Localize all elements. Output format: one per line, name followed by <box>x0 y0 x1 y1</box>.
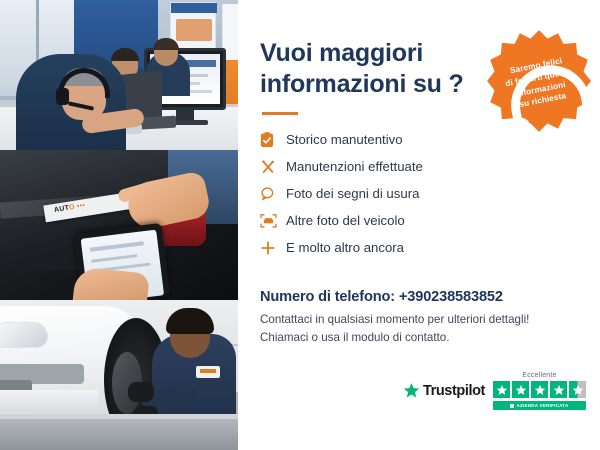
trustpilot-rating: Eccellente AZIENDA VERIFICATA <box>493 372 586 410</box>
contact-line-2: Chiamaci o usa il modulo di contatto. <box>260 329 578 347</box>
trustpilot-widget[interactable]: Trustpilot Eccellente AZIENDA VERIFICATA <box>403 372 586 410</box>
verified-label: AZIENDA VERIFICATA <box>516 403 568 408</box>
star-partial <box>569 381 586 398</box>
trustpilot-logo: Trustpilot <box>403 382 485 399</box>
poster-band <box>171 3 217 13</box>
contact-description: Contattaci in qualsiasi momento per ulte… <box>260 311 578 346</box>
wrench-screwdriver-icon <box>260 159 286 175</box>
lift-platform-edge <box>0 414 238 419</box>
star-filled <box>550 381 567 398</box>
photo-strip: AUTO ••• <box>0 0 238 450</box>
verified-badge: AZIENDA VERIFICATA <box>493 401 586 410</box>
star-rating <box>493 381 586 398</box>
photo-inspection-sticker: AUTO ••• <box>0 150 238 300</box>
mechanic-glove <box>128 382 154 402</box>
headset-icon <box>489 43 600 167</box>
accent-divider <box>262 112 298 115</box>
verified-check-icon <box>510 404 514 408</box>
plus-icon <box>260 240 286 256</box>
phone-line[interactable]: Numero di telefono: +390238583852 <box>260 289 578 305</box>
sticker-brand-text: AUTO ••• <box>54 202 86 214</box>
photo-call-center <box>0 0 238 150</box>
uniform-logo-patch <box>196 366 220 378</box>
tablet-screen-line <box>90 241 144 252</box>
feature-label: E molto altro ancora <box>286 241 404 254</box>
feature-item-foto-segni-usura[interactable]: Foto dei segni di usura <box>260 180 578 207</box>
foreground-agent <box>16 54 126 150</box>
headlight <box>0 322 48 348</box>
vehicle-lift <box>0 414 238 450</box>
promo-banner: AUTO ••• <box>0 0 600 450</box>
feature-item-altre-foto-veicolo[interactable]: Altre foto del veicolo <box>260 207 578 234</box>
feature-item-molto-altro[interactable]: E molto altro ancora <box>260 234 578 261</box>
contact-block: Numero di telefono: +390238583852 Contat… <box>260 289 578 346</box>
feature-label: Storico manutentivo <box>286 133 403 146</box>
photo-car-on-lift <box>0 300 238 450</box>
trustpilot-wordmark: Trustpilot <box>423 383 485 399</box>
callout-badge: Saremo felici di fornirti queste informa… <box>486 28 592 134</box>
feature-label: Manutenzioni effettuate <box>286 160 423 173</box>
star-filled <box>493 381 510 398</box>
phone-number[interactable]: +390238583852 <box>399 289 503 305</box>
feature-label: Foto dei segni di usura <box>286 187 419 200</box>
poster-image <box>176 19 212 41</box>
rating-label: Eccellente <box>522 372 556 379</box>
phone-label: Numero di telefono: <box>260 289 395 305</box>
star-filled <box>531 381 548 398</box>
front-bumper <box>0 390 98 412</box>
contact-line-1: Contattaci in qualsiasi momento per ulte… <box>260 311 578 329</box>
feature-label: Altre foto del veicolo <box>286 214 405 227</box>
car-photo-frame-icon <box>260 213 286 229</box>
search-bubble-icon <box>260 186 286 202</box>
headset-earcup <box>56 88 69 105</box>
trustpilot-star-icon <box>403 382 420 399</box>
star-filled <box>512 381 529 398</box>
tablet-screen-line <box>91 254 137 263</box>
content-panel: Vuoi maggiori informazioni su ? Saremo f… <box>238 0 600 450</box>
clipboard-check-icon <box>260 132 286 148</box>
